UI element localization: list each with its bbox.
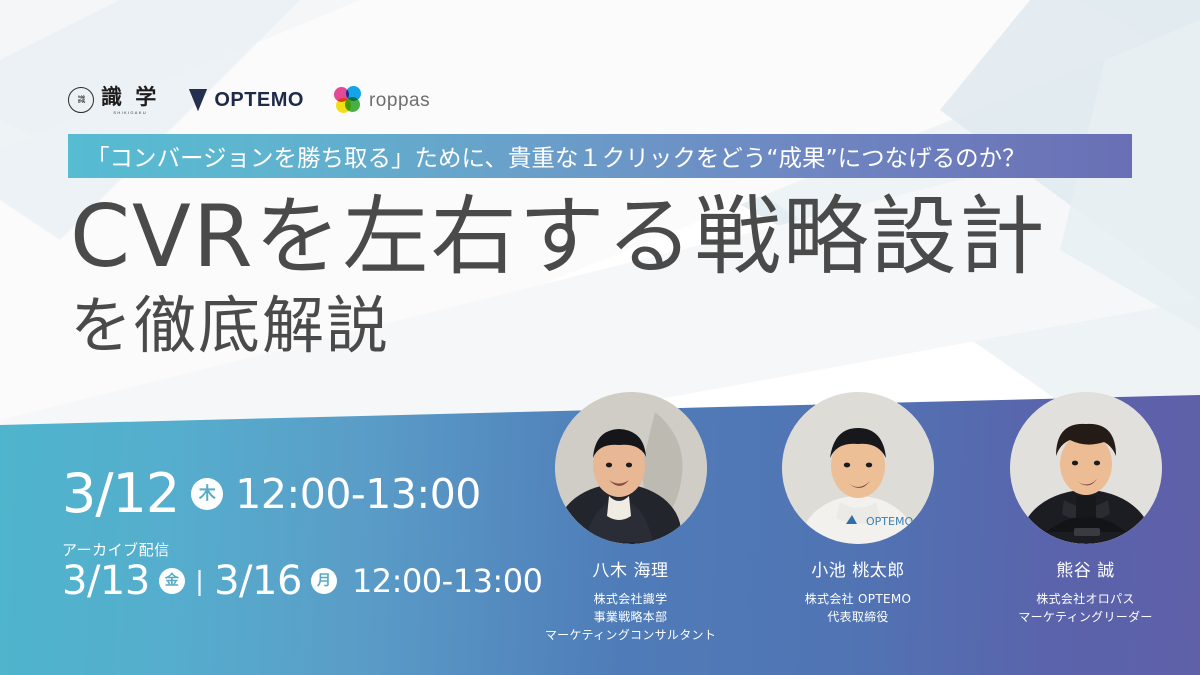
optemo-logo-text: OPTEMO [214, 90, 304, 110]
speaker-affiliation-line: 株式会社識学 [545, 590, 716, 608]
speaker-card: OPTEMO 小池 桃太郎 株式会社 OPTEMO 代表取締役 [756, 392, 961, 644]
avatar [1010, 392, 1162, 544]
subtitle-text: 「コンバージョンを勝ち取る」ために、貴重な１クリックをどう“成果”につなげるのか… [68, 139, 1026, 173]
archive-weekday-badge-2: 月 [311, 568, 337, 594]
speaker-card: 八木 海理 株式会社識学 事業戦略本部 マーケティングコンサルタント [528, 392, 733, 644]
speaker-affiliation-line: 株式会社 OPTEMO [805, 590, 912, 608]
page-title: CVRを左右する戦略設計 を徹底解説 [70, 192, 1047, 364]
optemo-logo: OPTEMO [189, 89, 304, 111]
title-line-1: CVRを左右する戦略設計 [70, 192, 1047, 283]
title-line-2: を徹底解説 [70, 289, 1047, 363]
oroppas-logo: roppas [334, 86, 430, 114]
speaker-affiliation: 株式会社オロパス マーケティングリーダー [1018, 590, 1152, 626]
archive-date-1: 3/13 [62, 561, 150, 601]
webinar-banner: 識 識 学 SHIKIGAKU OPTEMO roppas 「コンバージョンを勝… [0, 0, 1200, 675]
speaker-affiliation-line: 株式会社オロパス [1018, 590, 1152, 608]
speaker-affiliation: 株式会社識学 事業戦略本部 マーケティングコンサルタント [545, 590, 716, 644]
speaker-name: 熊谷 誠 [1056, 556, 1114, 581]
speaker-affiliation-line: マーケティングリーダー [1018, 608, 1152, 626]
main-session-date: 3/12 [62, 467, 179, 521]
main-session-time: 12:00-13:00 [235, 474, 481, 515]
main-session-row: 3/12 木 12:00-13:00 [62, 467, 542, 521]
archive-date-2: 3/16 [214, 561, 302, 601]
shikigaku-logo: 識 識 学 SHIKIGAKU [68, 86, 159, 115]
speaker-name: 小池 桃太郎 [811, 556, 904, 581]
optemo-triangle-icon [189, 89, 207, 111]
shikigaku-logo-subtext: SHIKIGAKU [113, 110, 146, 114]
shikigaku-logo-text: 識 学 [101, 86, 159, 107]
logo-row: 識 識 学 SHIKIGAKU OPTEMO roppas [68, 80, 430, 120]
oroppas-dots-icon [334, 86, 362, 114]
archive-date-separator: | [194, 565, 205, 597]
archive-weekday-badge-1: 金 [159, 568, 185, 594]
shikigaku-wordmark: 識 学 SHIKIGAKU [101, 86, 159, 115]
oroppas-logo-text: roppas [369, 91, 430, 110]
speaker-affiliation-line: マーケティングコンサルタント [545, 626, 716, 644]
speaker-list: 八木 海理 株式会社識学 事業戦略本部 マーケティングコンサルタント [528, 392, 1188, 644]
avatar: OPTEMO [782, 392, 934, 544]
main-session-weekday-badge: 木 [191, 478, 223, 510]
speaker-affiliation: 株式会社 OPTEMO 代表取締役 [805, 590, 912, 626]
avatar [555, 392, 707, 544]
archive-session-row: 3/13 金 | 3/16 月 12:00-13:00 [62, 561, 542, 601]
archive-label: アーカイブ配信 [62, 539, 542, 560]
speaker-affiliation-line: 代表取締役 [805, 608, 912, 626]
archive-session-time: 12:00-13:00 [352, 565, 542, 597]
shikigaku-seal-icon: 識 [68, 87, 94, 113]
speaker-card: 熊谷 誠 株式会社オロパス マーケティングリーダー [983, 392, 1188, 644]
subtitle-bar: 「コンバージョンを勝ち取る」ために、貴重な１クリックをどう“成果”につなげるのか… [68, 134, 1132, 178]
speaker-affiliation-line: 事業戦略本部 [545, 608, 716, 626]
svg-text:OPTEMO: OPTEMO [866, 515, 913, 528]
speaker-name: 八木 海理 [593, 556, 669, 581]
schedule-block: 3/12 木 12:00-13:00 アーカイブ配信 3/13 金 | 3/16… [62, 467, 542, 601]
